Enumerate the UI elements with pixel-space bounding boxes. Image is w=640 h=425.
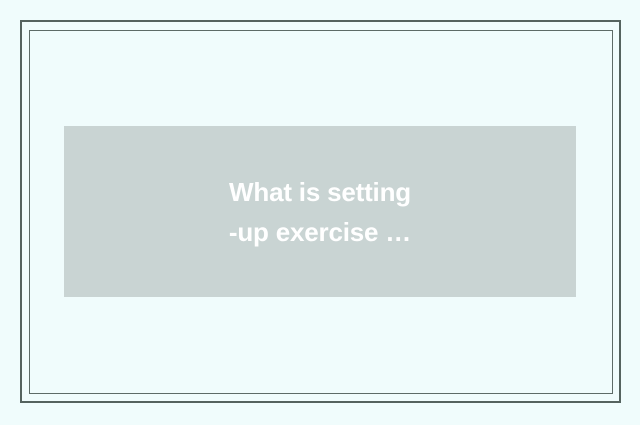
- slide-canvas: What is setting -up exercise …: [0, 0, 640, 425]
- headline-line-1: What is setting: [229, 172, 411, 212]
- headline-line-2: -up exercise …: [229, 212, 411, 252]
- content-placeholder-panel: What is setting -up exercise …: [64, 126, 576, 297]
